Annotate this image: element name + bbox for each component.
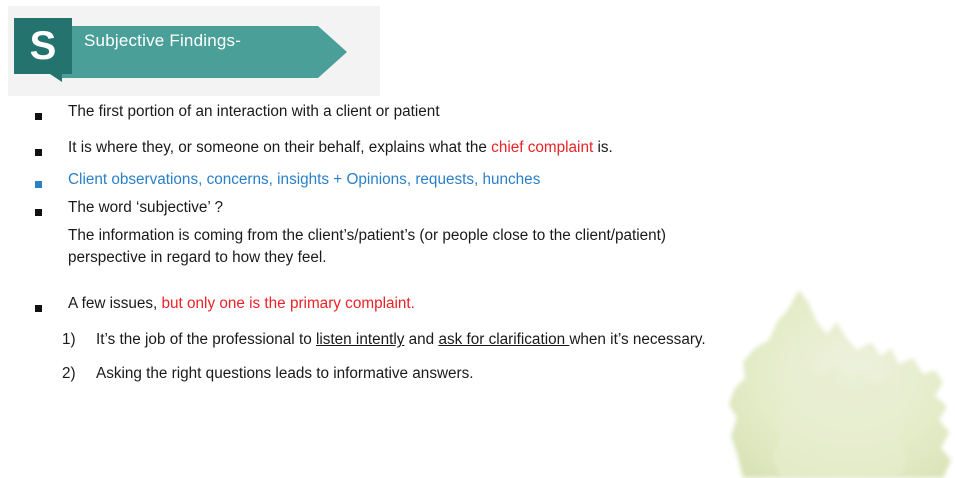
- square-bullet-icon: [35, 113, 42, 120]
- bullet-item-5: A few issues, but only one is the primar…: [0, 296, 955, 311]
- page-title: Subjective Findings-: [84, 32, 241, 49]
- bullet-item-2-text-after: is.: [593, 139, 613, 156]
- paragraph-line-1: The information is coming from the clien…: [68, 228, 955, 243]
- bullet-item-5-text-before: A few issues,: [68, 295, 162, 312]
- square-bullet-icon: [35, 209, 42, 216]
- spacer: [0, 311, 955, 332]
- numbered-item-1-underline-2: ask for clarification: [438, 331, 569, 348]
- bullet-item-5-highlight: but only one is the primary complaint.: [162, 295, 415, 312]
- bullet-item-2-text: It is where they, or someone on their be…: [68, 140, 955, 155]
- numbered-item-1-part-1: It’s the job of the professional to: [96, 331, 316, 348]
- slide-body-content: The first portion of an interaction with…: [0, 104, 955, 382]
- square-bullet-icon: [35, 149, 42, 156]
- numbered-item-2: 2)Asking the right questions leads to in…: [0, 366, 955, 381]
- bullet-item-4: The word ‘subjective’ ?: [0, 200, 955, 215]
- bullet-item-5-text: A few issues, but only one is the primar…: [68, 296, 955, 311]
- bullet-item-4-text: The word ‘subjective’ ?: [68, 200, 955, 215]
- numbered-item-1-marker: 1): [62, 332, 76, 347]
- numbered-item-1-underline-1: listen intently: [316, 331, 404, 348]
- banner-letter-badge: S: [14, 18, 72, 74]
- square-bullet-blue-icon: [35, 181, 42, 188]
- spacer: [0, 347, 955, 366]
- bullet-item-3-text: Client observations, concerns, insights …: [68, 172, 955, 187]
- bullet-item-2: It is where they, or someone on their be…: [0, 140, 955, 155]
- numbered-item-1-part-2: and: [404, 331, 438, 348]
- bullet-item-1: The first portion of an interaction with…: [0, 104, 955, 119]
- square-bullet-icon: [35, 305, 42, 312]
- spacer: [0, 119, 955, 140]
- spacer: [0, 187, 955, 200]
- slide-canvas: S Subjective Findings- The first portion…: [0, 0, 955, 478]
- bullet-item-2-text-before: It is where they, or someone on their be…: [68, 139, 491, 156]
- paragraph-line-2: perspective in regard to how they feel.: [68, 250, 955, 265]
- slide-title-banner: S Subjective Findings-: [0, 14, 380, 90]
- paragraph-block: The information is coming from the clien…: [0, 228, 955, 266]
- numbered-item-2-marker: 2): [62, 366, 76, 381]
- bullet-item-1-text: The first portion of an interaction with…: [68, 104, 955, 119]
- spacer: [0, 156, 955, 172]
- numbered-item-1: 1)It’s the job of the professional to li…: [0, 332, 955, 347]
- bullet-item-2-highlight: chief complaint: [491, 139, 593, 156]
- spacer: [0, 266, 955, 296]
- numbered-item-2-part-1: Asking the right questions leads to info…: [96, 365, 474, 382]
- numbered-item-1-part-3: when it’s necessary.: [569, 331, 705, 348]
- bullet-item-3: Client observations, concerns, insights …: [0, 172, 955, 187]
